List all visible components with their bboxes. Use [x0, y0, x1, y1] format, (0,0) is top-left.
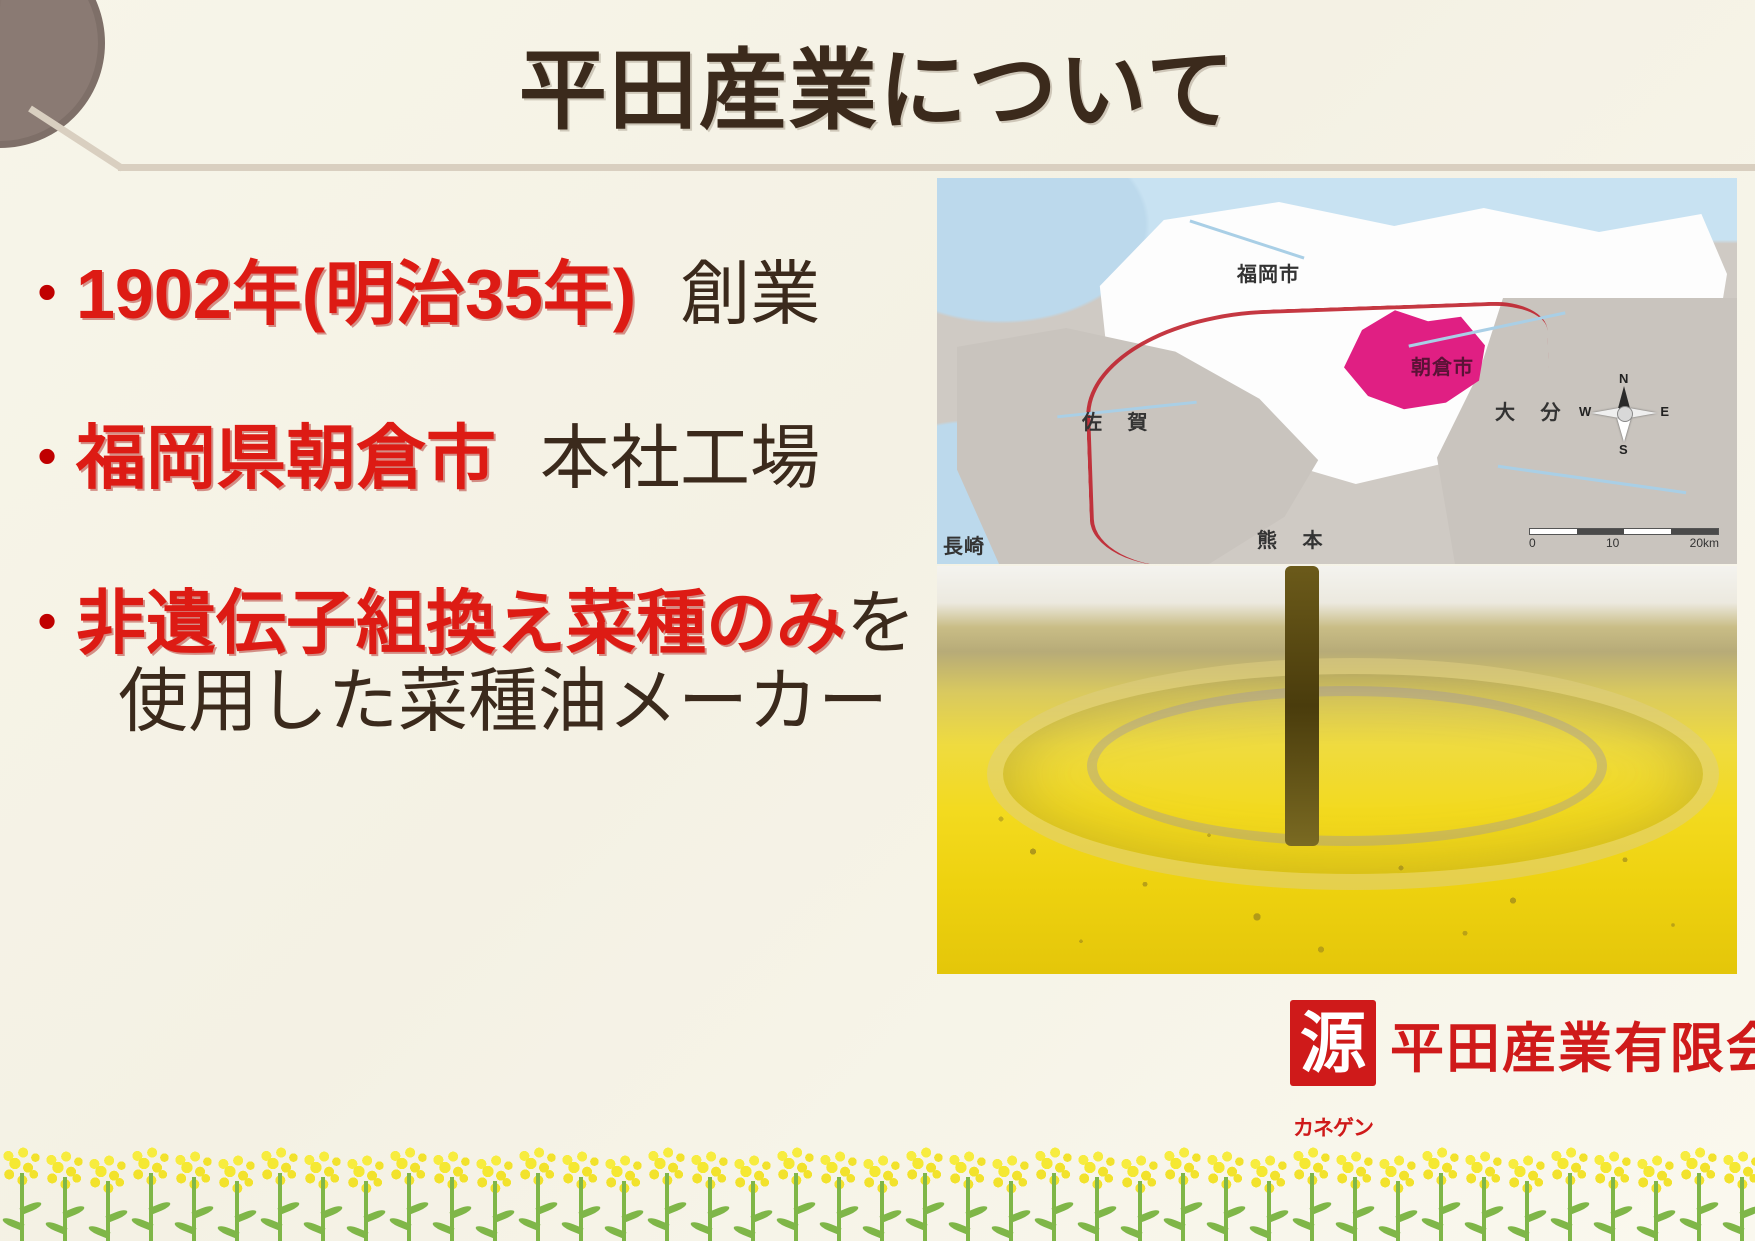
flower-row [0, 1129, 1755, 1241]
compass-hub [1617, 406, 1633, 422]
rapeseed-flower-icon [301, 1133, 344, 1241]
compass-needle-west [1591, 408, 1619, 418]
bullet-2-plain: 本社工場 [540, 419, 820, 497]
scale-seg [1577, 529, 1624, 534]
map-scale-bar: 0 10 20km [1529, 528, 1719, 550]
bullet-line-continuation: 使用した菜種油メーカー [76, 662, 928, 740]
rapeseed-flower-border [0, 1129, 1755, 1241]
rapeseed-flower-icon [258, 1129, 301, 1241]
bullet-marker-icon: • [18, 584, 76, 658]
map-label-kumamoto: 熊 本 [1257, 524, 1333, 553]
bullet-3-plain: を [846, 584, 916, 662]
rapeseed-flower-icon [645, 1129, 688, 1241]
compass-west-label: W [1579, 404, 1591, 419]
compass-rose-icon: N S E W [1589, 376, 1659, 450]
rapeseed-flower-icon [215, 1137, 258, 1241]
map-label-asakura-shi: 朝倉市 [1411, 351, 1474, 380]
rapeseed-flower-icon [989, 1137, 1032, 1241]
company-name: 平田産業有限会社 [1390, 1004, 1755, 1083]
bullet-body: 非遺伝子組換え菜種のみを 使用した菜種油メーカー [76, 584, 928, 741]
bullet-marker-icon: • [18, 255, 76, 329]
logo-mark-icon: 源 カネゲン [1290, 1000, 1376, 1086]
rapeseed-flower-icon [1505, 1137, 1548, 1241]
bullet-body: 1902年(明治35年)創業 [76, 255, 928, 333]
rapeseed-flower-icon [1634, 1137, 1677, 1241]
company-logo: 源 カネゲン 平田産業有限会社 [1290, 1000, 1755, 1086]
rapeseed-flower-icon [817, 1133, 860, 1241]
scale-label-end: 20km [1690, 536, 1719, 550]
rapeseed-flower-icon [1419, 1129, 1462, 1241]
slide-root: 平田産業について • 1902年(明治35年)創業 • 福岡県朝倉市本社工場 • [0, 0, 1755, 1241]
rapeseed-flower-icon [344, 1137, 387, 1241]
rapeseed-oil-photo [937, 566, 1737, 974]
map-label-nagasaki: 長崎 [943, 530, 985, 559]
bullet-list: • 1902年(明治35年)創業 • 福岡県朝倉市本社工場 • 非遺伝子組換え菜… [18, 255, 928, 827]
map-label-oita: 大 分 [1495, 396, 1571, 425]
rapeseed-flower-icon [387, 1129, 430, 1241]
rapeseed-flower-icon [473, 1137, 516, 1241]
scale-seg [1530, 529, 1577, 534]
rapeseed-flower-icon [172, 1133, 215, 1241]
rapeseed-flower-icon [1161, 1129, 1204, 1241]
decorative-horizontal-rule [118, 164, 1755, 171]
bullet-line: 非遺伝子組換え菜種のみを [76, 584, 928, 662]
bullet-1-plain: 創業 [680, 255, 820, 333]
rapeseed-flower-icon [688, 1133, 731, 1241]
rapeseed-flower-icon [1548, 1129, 1591, 1241]
rapeseed-flower-icon [559, 1133, 602, 1241]
rapeseed-flower-icon [1591, 1133, 1634, 1241]
compass-needle-east [1629, 408, 1657, 418]
flower-head [1721, 1149, 1755, 1191]
compass-south-label: S [1619, 442, 1628, 457]
rapeseed-flower-icon [946, 1133, 989, 1241]
scale-label-start: 0 [1529, 536, 1536, 550]
rapeseed-flower-icon [1720, 1133, 1755, 1241]
rapeseed-flower-icon [1333, 1133, 1376, 1241]
rapeseed-flower-icon [903, 1129, 946, 1241]
rapeseed-flower-icon [516, 1129, 559, 1241]
scale-seg [1624, 529, 1671, 534]
page-title: 平田産業について [0, 20, 1755, 147]
bullet-2-highlight: 福岡県朝倉市 [76, 419, 496, 497]
rapeseed-flower-icon [86, 1137, 129, 1241]
rapeseed-flower-icon [1204, 1133, 1247, 1241]
list-item: • 非遺伝子組換え菜種のみを 使用した菜種油メーカー [18, 584, 928, 741]
bullet-1-highlight: 1902年(明治35年) [76, 255, 636, 333]
rapeseed-flower-icon [1462, 1133, 1505, 1241]
rapeseed-flower-icon [1677, 1129, 1720, 1241]
logo-mark-character: 源 [1300, 1006, 1366, 1080]
oil-bubbles-texture [937, 566, 1737, 974]
map-label-fukuoka-shi: 福岡市 [1237, 258, 1300, 287]
rapeseed-flower-icon [1290, 1129, 1333, 1241]
scale-bar-track [1529, 528, 1719, 535]
rapeseed-flower-icon [129, 1129, 172, 1241]
compass-north-label: N [1619, 371, 1628, 386]
rapeseed-flower-icon [1118, 1137, 1161, 1241]
map-label-saga: 佐 賀 [1082, 406, 1158, 435]
rapeseed-flower-icon [860, 1137, 903, 1241]
scale-seg [1671, 529, 1718, 534]
scale-bar-labels: 0 10 20km [1529, 536, 1719, 550]
scale-label-mid: 10 [1606, 536, 1619, 550]
rapeseed-flower-icon [43, 1133, 86, 1241]
bullet-line: 福岡県朝倉市本社工場 [76, 419, 928, 497]
rapeseed-flower-icon [774, 1129, 817, 1241]
rapeseed-flower-icon [1075, 1133, 1118, 1241]
bullet-marker-icon: • [18, 419, 76, 493]
rapeseed-flower-icon [1032, 1129, 1075, 1241]
bullet-line: 1902年(明治35年)創業 [76, 255, 928, 333]
rapeseed-flower-icon [430, 1133, 473, 1241]
list-item: • 1902年(明治35年)創業 [18, 255, 928, 333]
bullet-3-highlight: 非遺伝子組換え菜種のみ [76, 584, 846, 662]
bullet-body: 福岡県朝倉市本社工場 [76, 419, 928, 497]
rapeseed-flower-icon [602, 1137, 645, 1241]
bullet-3-line2: 使用した菜種油メーカー [118, 662, 888, 740]
rapeseed-flower-icon [731, 1137, 774, 1241]
rapeseed-flower-icon [1376, 1137, 1419, 1241]
rapeseed-flower-icon [0, 1129, 43, 1241]
compass-east-label: E [1660, 404, 1669, 419]
list-item: • 福岡県朝倉市本社工場 [18, 419, 928, 497]
map-image: 福岡市 佐 賀 朝倉市 大 分 長崎 熊 本 N S E W 0 [937, 178, 1737, 564]
rapeseed-flower-icon [1247, 1137, 1290, 1241]
